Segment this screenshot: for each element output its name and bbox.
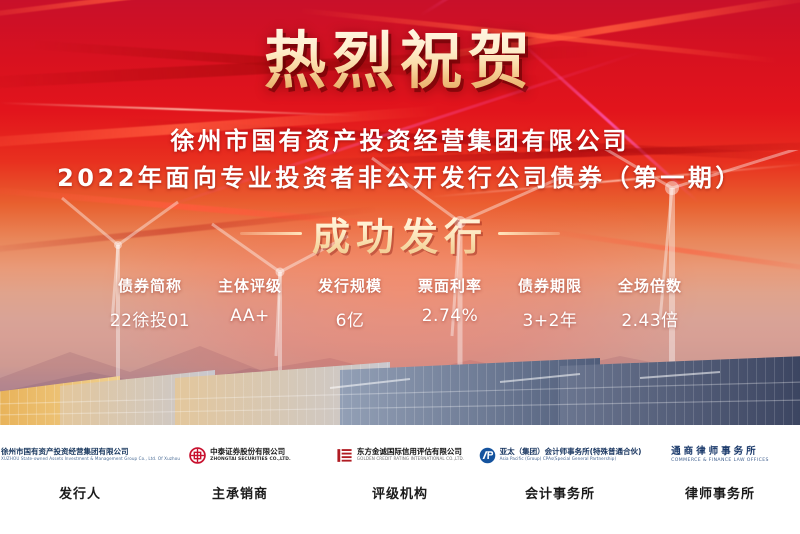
stat-header-issuer-rating: 主体评级 — [200, 275, 300, 296]
page-title: 热烈祝贺 — [0, 28, 800, 95]
partner-logo-underwriter: 中泰证券股份有限公司 ZHONGTAI SECURITIES CO.,LTD. — [160, 433, 320, 477]
role-label-issuer: 发行人 — [0, 483, 160, 502]
issuer-name-line: 徐州市国有资产投资经营集团有限公司 — [0, 121, 800, 156]
role-label-rating-agency: 评级机构 — [320, 483, 480, 502]
stat-value-issuer-rating: AA+ — [200, 306, 300, 331]
partner-name-en: COMMERCE & FINANCE LAW OFFICES — [671, 458, 769, 464]
partner-logo-text: 亚太（集团）会计师事务所(特殊普通合伙) Asia Pacific (Group… — [500, 448, 642, 462]
banner-rule-left — [240, 232, 302, 235]
role-label-underwriter: 主承销商 — [160, 483, 320, 502]
partner-name-cn: 通商律师事务所 — [671, 447, 769, 458]
partner-logo-text: 东方金诚国际信用评估有限公司 GOLDEN CREDIT RATING INTE… — [357, 448, 464, 462]
role-label-law-firm: 律师事务所 — [640, 483, 800, 502]
stat-value-coupon-rate: 2.74% — [400, 306, 500, 331]
ap-circle-logo-icon — [479, 447, 496, 464]
bond-name-line: 2022年面向专业投资者非公开发行公司债券（第一期） — [0, 158, 800, 193]
partner-logo-accounting-firm: 亚太（集团）会计师事务所(特殊普通合伙) Asia Pacific (Group… — [480, 433, 640, 477]
partner-logo-text: 徐州市国有资产投资经营集团有限公司 XUZHOU State-owned Ass… — [1, 448, 180, 462]
stat-header-issue-size: 发行规模 — [300, 275, 400, 296]
role-label-accounting-firm: 会计事务所 — [480, 483, 640, 502]
stat-value-issue-size: 6亿 — [300, 306, 400, 331]
stat-value-bond-term: 3+2年 — [500, 306, 600, 331]
partner-logo-text: 通商律师事务所 COMMERCE & FINANCE LAW OFFICES — [671, 447, 769, 463]
success-banner-text: 成功发行 — [312, 206, 488, 261]
partner-name-en: Asia Pacific (Group) CPAs(Special Genera… — [500, 457, 642, 462]
partner-role-row: 发行人 主承销商 评级机构 会计事务所 律师事务所 — [0, 483, 800, 502]
partner-name-en: GOLDEN CREDIT RATING INTERNATIONAL CO.,L… — [357, 457, 464, 462]
partner-name-en: XUZHOU State-owned Assets Investment & M… — [1, 457, 180, 462]
stat-value-oversubscription: 2.43倍 — [600, 306, 700, 331]
stat-header-bond-term: 债券期限 — [500, 275, 600, 296]
stat-header-bond-short-name: 债券简称 — [100, 275, 200, 296]
stat-header-coupon-rate: 票面利率 — [400, 275, 500, 296]
bars-logo-icon — [336, 447, 353, 464]
solar-panel-illustration — [0, 352, 800, 425]
partner-name-cn: 中泰证券股份有限公司 — [210, 448, 291, 457]
poster-canvas: 热烈祝贺 徐州市国有资产投资经营集团有限公司 2022年面向专业投资者非公开发行… — [0, 0, 800, 534]
stat-value-bond-short-name: 22徐投01 — [100, 306, 200, 331]
coin-logo-icon — [189, 447, 206, 464]
stat-header-oversubscription: 全场倍数 — [600, 275, 700, 296]
partner-logo-law-firm: 通商律师事务所 COMMERCE & FINANCE LAW OFFICES — [640, 433, 800, 477]
success-banner: 成功发行 — [0, 206, 800, 261]
footer-partners: 徐州市国有资产投资经营集团有限公司 XUZHOU State-owned Ass… — [0, 425, 800, 534]
partner-logo-row: 徐州市国有资产投资经营集团有限公司 XUZHOU State-owned Ass… — [0, 433, 800, 477]
banner-rule-right — [498, 232, 560, 235]
partner-logo-text: 中泰证券股份有限公司 ZHONGTAI SECURITIES CO.,LTD. — [210, 448, 291, 462]
partner-logo-issuer: 徐州市国有资产投资经营集团有限公司 XUZHOU State-owned Ass… — [0, 433, 160, 477]
partner-logo-rating-agency: 东方金诚国际信用评估有限公司 GOLDEN CREDIT RATING INTE… — [320, 433, 480, 477]
bond-stats-table: 债券简称 主体评级 发行规模 票面利率 债券期限 全场倍数 22徐投01 AA+… — [100, 275, 700, 331]
partner-name-en: ZHONGTAI SECURITIES CO.,LTD. — [210, 457, 291, 462]
